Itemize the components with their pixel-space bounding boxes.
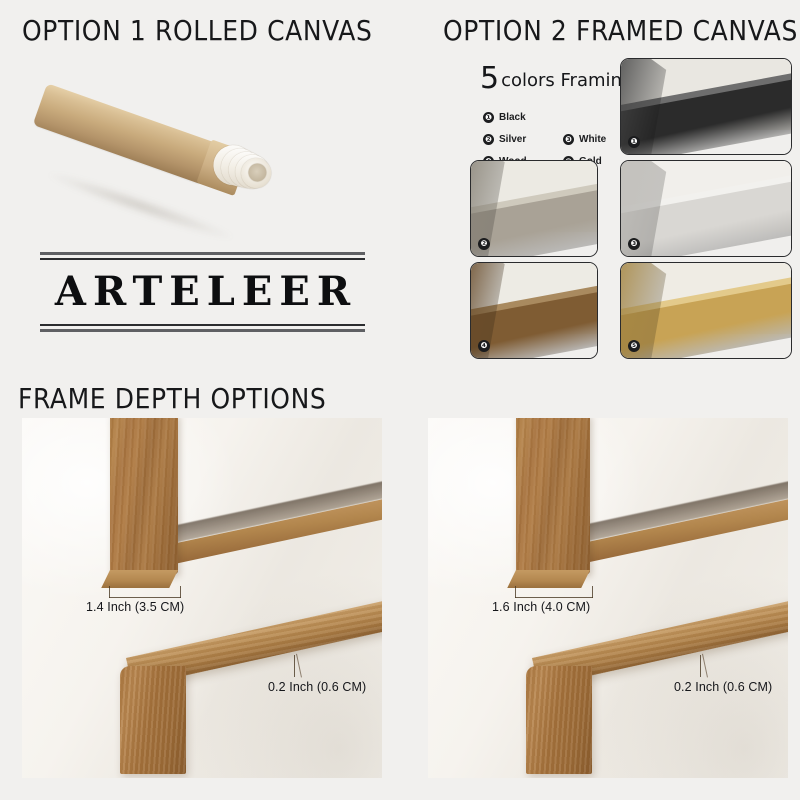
brand-logo: ARTELEER [40,252,365,332]
logo-rule-top [40,252,365,260]
frame-swatch-image [621,263,791,358]
thin-profile-corner [526,666,592,774]
frame-depth-title: FRAME DEPTH OPTIONS [18,382,326,414]
dim-line [515,597,593,598]
legend-label-black: Black [499,112,526,123]
logo-rule-bottom [40,324,365,332]
brand-name: ARTELEER [40,260,365,324]
depth-dimension-label: 1.6 Inch (4.0 CM) [492,600,590,614]
framing-colors-panel: 5colors Framing ❶ Black ❷ Silver ❸ White [470,58,792,358]
frame-swatch-image [471,263,597,358]
swatch-badge-1: ❶ [628,136,640,148]
wall-shading [428,418,788,778]
dim-tick-right [180,586,181,598]
canvas-tube-icon [36,74,286,194]
product-infographic: OPTION 1 ROLLED CANVAS ARTELEER [0,0,800,800]
option-2-title: OPTION 2 FRAMED CANVAS [443,14,798,46]
wall-shading [22,418,382,778]
depth-photo-option-2: 1.6 Inch (4.0 CM) 0.2 Inch (0.6 CM) [428,418,788,778]
frame-depth-end-face [507,570,590,588]
legend-item-black: ❶ Black [483,112,563,123]
thin-profile-corner [120,666,186,774]
framing-color-count: 5 [480,61,499,96]
legend-badge-2: ❷ [483,134,494,145]
dim-tick-right [592,586,593,598]
legend-badge-3: ❸ [563,134,574,145]
dim-tick-thin [700,655,701,677]
legend-badge-1: ❶ [483,112,494,123]
frame-swatch-image [621,59,791,154]
frame-swatch-wood[interactable]: ❹ [470,262,598,359]
frame-swatch-black[interactable]: ❶ [620,58,792,155]
dim-line [109,597,181,598]
frame-swatch-white[interactable]: ❸ [620,160,792,257]
thickness-dimension-label: 0.2 Inch (0.6 CM) [674,680,772,694]
depth-dimension-label: 1.4 Inch (3.5 CM) [86,600,184,614]
legend-label-white: White [579,134,606,145]
legend-item-silver: ❷ Silver [483,134,563,145]
framing-heading-text: colors Framing [501,70,633,91]
thickness-dimension-label: 0.2 Inch (0.6 CM) [268,680,366,694]
frame-swatch-image [471,161,597,256]
rolled-canvas-image [30,58,300,208]
frame-swatch-silver[interactable]: ❷ [470,160,598,257]
frame-vertical-member [110,418,178,574]
dim-tick-thin [294,655,295,677]
legend-label-silver: Silver [499,134,526,145]
depth-photo-option-1: 1.4 Inch (3.5 CM) 0.2 Inch (0.6 CM) [22,418,382,778]
frame-vertical-member [516,418,590,574]
frame-depth-end-face [101,570,178,588]
frame-swatch-gold[interactable]: ❺ [620,262,792,359]
framing-heading: 5colors Framing [480,61,633,96]
swatch-badge-5: ❺ [628,340,640,352]
frame-swatch-image [621,161,791,256]
swatch-badge-3: ❸ [628,238,640,250]
swatch-badge-2: ❷ [478,238,490,250]
option-1-title: OPTION 1 ROLLED CANVAS [22,14,372,46]
swatch-badge-4: ❹ [478,340,490,352]
